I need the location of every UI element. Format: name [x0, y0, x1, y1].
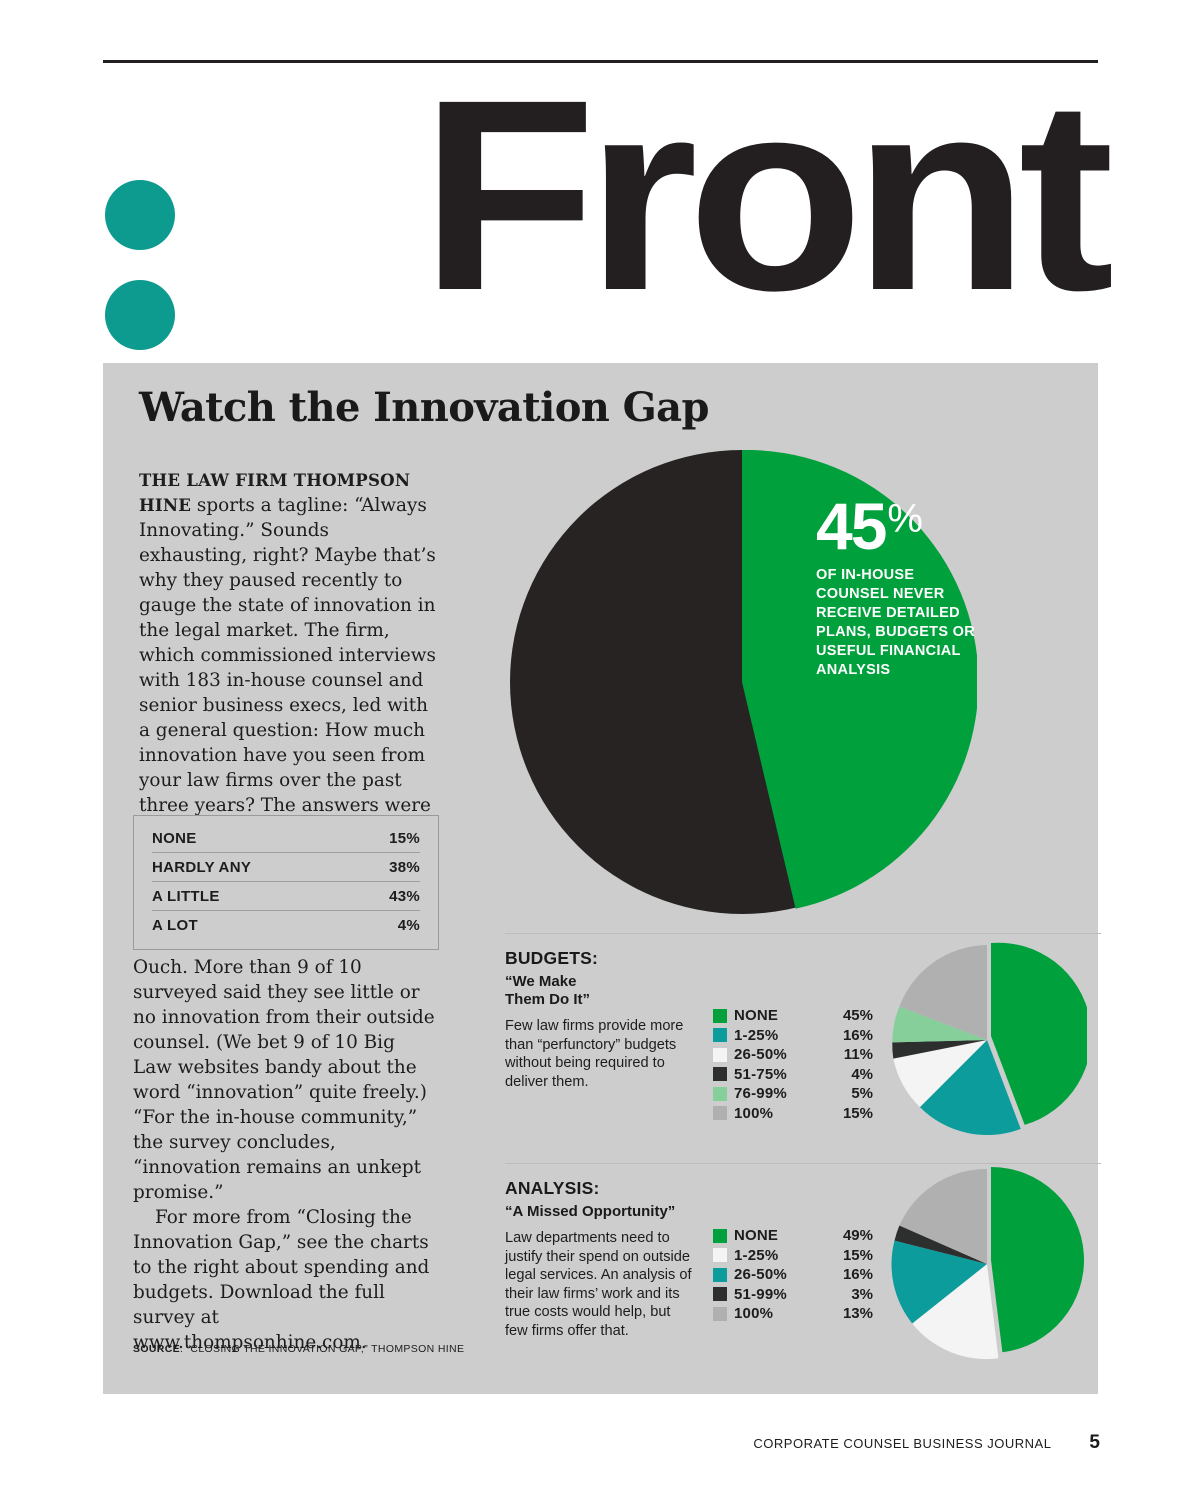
table-cell-label: A LITTLE	[152, 888, 220, 905]
legend-item: 26-50% 16%	[713, 1265, 873, 1285]
analysis-description: Law departments need to justify their sp…	[505, 1229, 695, 1341]
legend-label: 51-75%	[734, 1066, 829, 1083]
legend-swatch-1-25	[713, 1028, 727, 1042]
table-row: A LITTLE 43%	[152, 882, 420, 911]
budgets-chart-block: BUDGETS: “We Make Them Do It” Few law fi…	[505, 933, 1101, 1145]
table-cell-value: 4%	[398, 917, 420, 934]
article-paragraph-1-text: sports a tagline: “Always Innovating.” S…	[139, 495, 436, 841]
legend-item: 100% 15%	[713, 1104, 873, 1124]
page-footer: CORPORATE COUNSEL BUSINESS JOURNAL 5	[753, 1432, 1100, 1454]
legend-value: 13%	[829, 1305, 873, 1322]
hero-callout: 45 % OF IN-HOUSE COUNSEL NEVER RECEIVE D…	[816, 495, 991, 680]
legend-item: 76-99% 5%	[713, 1084, 873, 1104]
legend-value: 16%	[829, 1027, 873, 1044]
analysis-legend: NONE 49% 1-25% 15% 26-50% 16%	[713, 1164, 873, 1324]
analysis-subtitle: “A Missed Opportunity”	[505, 1203, 705, 1221]
legend-label: 76-99%	[734, 1085, 829, 1102]
legend-label: 1-25%	[734, 1027, 829, 1044]
table-cell-value: 43%	[389, 888, 420, 905]
legend-label: 26-50%	[734, 1266, 829, 1283]
source-note: SOURCE: “CLOSING THE INNOVATION GAP,” TH…	[133, 1343, 473, 1355]
article-paragraph-3: For more from “Closing the Innovation Ga…	[133, 1205, 439, 1355]
innovation-stat-table: NONE 15% HARDLY ANY 38% A LITTLE 43% A L…	[133, 815, 439, 950]
masthead-dots	[105, 180, 175, 350]
analysis-pie-svg	[887, 1164, 1087, 1364]
budgets-legend: NONE 45% 1-25% 16% 26-50% 11%	[713, 934, 873, 1123]
legend-value: 45%	[829, 1007, 873, 1024]
legend-swatch-26-50	[713, 1268, 727, 1282]
legend-item: 1-25% 15%	[713, 1246, 873, 1266]
legend-value: 15%	[829, 1105, 873, 1122]
budgets-subtitle-line-2: Them Do It”	[505, 991, 705, 1009]
teal-dot-top	[105, 180, 175, 250]
table-row: NONE 15%	[152, 824, 420, 853]
hero-percent-symbol: %	[887, 495, 921, 543]
article-panel: Watch the Innovation Gap THE LAW FIRM TH…	[103, 363, 1098, 1394]
footer-publication: CORPORATE COUNSEL BUSINESS JOURNAL	[753, 1436, 1051, 1451]
legend-swatch-100	[713, 1106, 727, 1120]
magazine-page: Front Watch the Innovation Gap THE LAW F…	[0, 0, 1200, 1491]
legend-label: 26-50%	[734, 1046, 829, 1063]
analysis-text-column: ANALYSIS: “A Missed Opportunity” Law dep…	[505, 1164, 705, 1341]
legend-item: 1-25% 16%	[713, 1026, 873, 1046]
legend-label: NONE	[734, 1227, 829, 1244]
hero-percentage: 45 %	[816, 495, 991, 557]
legend-item: 51-99% 3%	[713, 1285, 873, 1305]
legend-swatch-51-75	[713, 1067, 727, 1081]
legend-value: 5%	[829, 1085, 873, 1102]
legend-value: 15%	[829, 1247, 873, 1264]
legend-label: 100%	[734, 1305, 829, 1322]
legend-value: 49%	[829, 1227, 873, 1244]
budgets-subtitle: “We Make Them Do It”	[505, 973, 705, 1009]
teal-dot-bottom	[105, 280, 175, 350]
article-left-column-lower: Ouch. More than 9 of 10 surveyed said th…	[133, 955, 439, 1355]
budgets-description: Few law firms provide more than “perfunc…	[505, 1017, 695, 1091]
table-row: HARDLY ANY 38%	[152, 853, 420, 882]
legend-swatch-76-99	[713, 1087, 727, 1101]
legend-swatch-100	[713, 1307, 727, 1321]
article-left-column: THE LAW FIRM THOMPSON HINE sports a tagl…	[139, 468, 439, 843]
article-paragraph-2: Ouch. More than 9 of 10 surveyed said th…	[133, 955, 439, 1205]
legend-label: 100%	[734, 1105, 829, 1122]
analysis-slice-none	[991, 1167, 1084, 1352]
legend-item: NONE 45%	[713, 1006, 873, 1026]
hero-caption: OF IN-HOUSE COUNSEL NEVER RECEIVE DETAIL…	[816, 566, 991, 680]
legend-item: 26-50% 11%	[713, 1045, 873, 1065]
table-row: A LOT 4%	[152, 911, 420, 939]
legend-label: NONE	[734, 1007, 829, 1024]
table-cell-value: 38%	[389, 859, 420, 876]
legend-label: 1-25%	[734, 1247, 829, 1264]
analysis-chart-block: ANALYSIS: “A Missed Opportunity” Law dep…	[505, 1163, 1101, 1369]
legend-swatch-none	[713, 1229, 727, 1243]
table-cell-value: 15%	[389, 830, 420, 847]
legend-value: 4%	[829, 1066, 873, 1083]
analysis-inner: ANALYSIS: “A Missed Opportunity” Law dep…	[505, 1164, 1101, 1369]
analysis-pie-chart	[887, 1164, 1102, 1369]
table-cell-label: NONE	[152, 830, 197, 847]
legend-item: 100% 13%	[713, 1304, 873, 1324]
budgets-title: BUDGETS:	[505, 948, 705, 969]
source-label: SOURCE	[133, 1343, 180, 1355]
footer-page-number: 5	[1089, 1432, 1100, 1454]
legend-item: 51-75% 4%	[713, 1065, 873, 1085]
legend-swatch-none	[713, 1009, 727, 1023]
legend-value: 3%	[829, 1286, 873, 1303]
masthead-title: Front	[420, 68, 1104, 323]
budgets-subtitle-line-1: “We Make	[505, 973, 705, 991]
table-cell-label: HARDLY ANY	[152, 859, 251, 876]
legend-item: NONE 49%	[713, 1226, 873, 1246]
source-text: : “CLOSING THE INNOVATION GAP,” THOMPSON…	[180, 1343, 464, 1355]
budgets-text-column: BUDGETS: “We Make Them Do It” Few law fi…	[505, 934, 705, 1091]
legend-swatch-51-99	[713, 1287, 727, 1301]
legend-swatch-26-50	[713, 1048, 727, 1062]
article-paragraph-1: THE LAW FIRM THOMPSON HINE sports a tagl…	[139, 468, 439, 843]
budgets-pie-svg	[887, 940, 1087, 1140]
budgets-inner: BUDGETS: “We Make Them Do It” Few law fi…	[505, 934, 1101, 1145]
page-title: Watch the Innovation Gap	[139, 385, 709, 431]
hero-number: 45	[816, 495, 885, 557]
legend-label: 51-99%	[734, 1286, 829, 1303]
analysis-title: ANALYSIS:	[505, 1178, 705, 1199]
legend-value: 11%	[829, 1046, 873, 1063]
budgets-pie-chart	[887, 934, 1102, 1145]
table-cell-label: A LOT	[152, 917, 198, 934]
legend-swatch-1-25	[713, 1248, 727, 1262]
legend-value: 16%	[829, 1266, 873, 1283]
